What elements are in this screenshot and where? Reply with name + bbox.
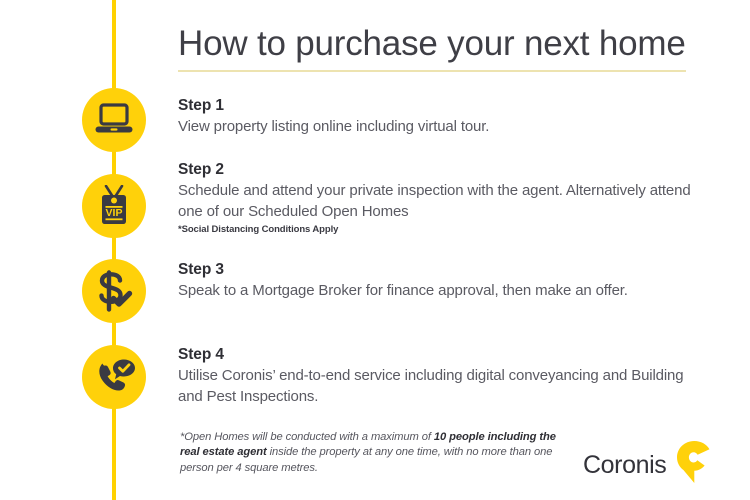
step-label-4: Step 4 <box>178 345 698 365</box>
step-item-4: Step 4 Utilise Coronis’ end-to-end servi… <box>178 345 698 405</box>
step-icon-circle-2: VIP <box>82 174 146 238</box>
step-note-2: *Social Distancing Conditions Apply <box>178 223 698 236</box>
timeline-rail <box>112 0 116 500</box>
step-body-4: Utilise Coronis’ end-to-end service incl… <box>178 366 698 407</box>
step-icon-circle-1 <box>82 88 146 152</box>
step-icon-circle-3 <box>82 259 146 323</box>
step-body-1: View property listing online including v… <box>178 117 698 138</box>
logo-wordmark: Coronis <box>583 450 666 480</box>
dollar-check-icon <box>93 270 135 312</box>
coronis-logo: Coronis <box>583 440 712 489</box>
infographic-canvas: VIP How to purchase your next home <box>0 0 750 500</box>
vip-tag-icon: VIP <box>95 185 133 227</box>
title-divider <box>178 70 686 72</box>
phone-chat-check-icon-circle <box>82 345 146 409</box>
phone-chat-check-icon <box>93 357 135 397</box>
step-body-3: Speak to a Mortgage Broker for finance a… <box>178 281 698 302</box>
laptop-icon <box>94 103 134 137</box>
footnote-part-1: *Open Homes will be conducted with a max… <box>180 431 434 443</box>
steps-list: Step 1 View property listing online incl… <box>178 96 698 417</box>
step-label-2: Step 2 <box>178 160 698 180</box>
svg-text:VIP: VIP <box>106 207 123 219</box>
step-item-3: Step 3 Speak to a Mortgage Broker for fi… <box>178 260 698 333</box>
step-item-2: Step 2 Schedule and attend your private … <box>178 160 698 248</box>
step-body-2: Schedule and attend your private inspect… <box>178 181 698 222</box>
footnote: *Open Homes will be conducted with a max… <box>180 430 560 476</box>
page-title: How to purchase your next home <box>178 22 690 66</box>
step-label-1: Step 1 <box>178 96 698 116</box>
coronis-c-pin-icon <box>676 440 712 489</box>
step-label-3: Step 3 <box>178 260 698 280</box>
step-item-1: Step 1 View property listing online incl… <box>178 96 698 148</box>
